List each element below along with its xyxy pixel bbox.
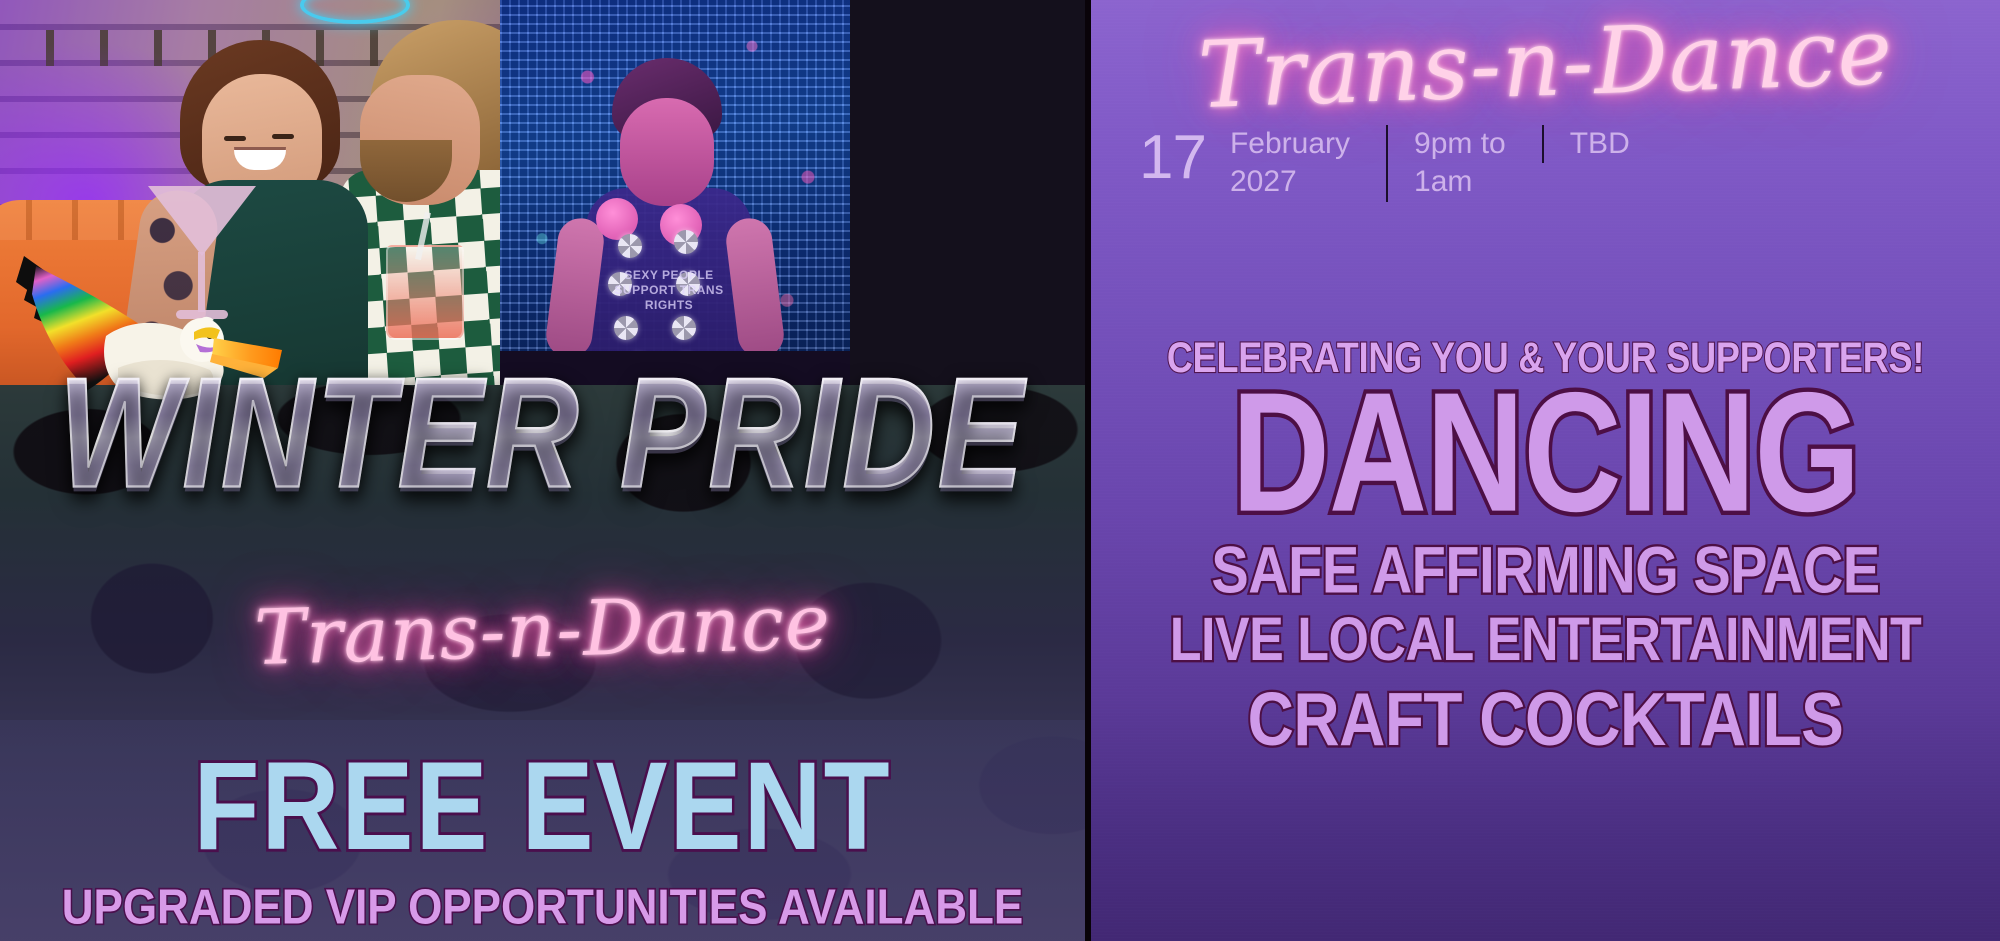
event-time: 9pm to 1am bbox=[1414, 125, 1506, 202]
left-panel: SEXY PEOPLE SUPPORT TRANS RIGHTS bbox=[0, 0, 1085, 941]
disco-bead bbox=[674, 230, 698, 254]
right-copy-block: CELEBRATING YOU & YOUR SUPPORTERS! DANCI… bbox=[1091, 340, 2000, 753]
right-panel: Trans-n-Dance 17 February 2027 9pm to 1a… bbox=[1091, 0, 2000, 941]
event-time-col: 9pm to 1am bbox=[1386, 125, 1532, 202]
event-day-number: 17 bbox=[1139, 125, 1206, 188]
dancing-headline: DANCING bbox=[1101, 374, 1990, 530]
dj-figure: SEXY PEOPLE SUPPORT TRANS RIGHTS bbox=[556, 58, 776, 385]
disco-bead bbox=[614, 316, 638, 340]
feature-safe-affirming-space: SAFE AFFIRMING SPACE bbox=[1101, 536, 1990, 603]
feature-live-local-entertainment: LIVE LOCAL ENTERTAINMENT bbox=[1101, 609, 1990, 672]
disco-bead bbox=[618, 234, 642, 258]
dj-shirt-slogan: SEXY PEOPLE SUPPORT TRANS RIGHTS bbox=[594, 268, 744, 313]
free-event-block: FREE EVENT UPGRADED VIP OPPORTUNITIES AV… bbox=[0, 752, 1085, 930]
event-banner: SEXY PEOPLE SUPPORT TRANS RIGHTS bbox=[0, 0, 2000, 941]
dj-face bbox=[620, 98, 714, 206]
event-month-year-col: February 2027 bbox=[1230, 125, 1376, 202]
feature-craft-cocktails: CRAFT COCKTAILS bbox=[1101, 681, 1990, 758]
event-venue: TBD bbox=[1570, 125, 1630, 163]
disco-bead bbox=[672, 316, 696, 340]
free-event-headline: FREE EVENT bbox=[0, 743, 1085, 868]
event-details-row: 17 February 2027 9pm to 1am TBD bbox=[1139, 125, 1656, 202]
photo-dj: SEXY PEOPLE SUPPORT TRANS RIGHTS bbox=[500, 0, 850, 385]
cocktail-tumbler bbox=[386, 245, 464, 340]
winter-pride-logo: WINTER PRIDE bbox=[0, 356, 1085, 512]
event-venue-col: TBD bbox=[1542, 125, 1656, 163]
vip-upgrade-line: UPGRADED VIP OPPORTUNITIES AVAILABLE bbox=[0, 883, 1085, 932]
event-month-year: February 2027 bbox=[1230, 125, 1350, 202]
